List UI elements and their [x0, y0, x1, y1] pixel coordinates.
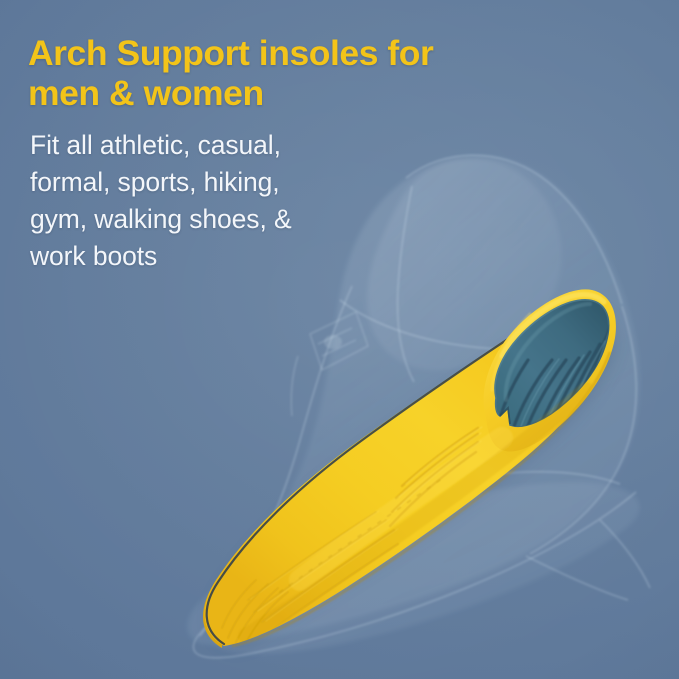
- copy-block: Arch Support insoles for men & women Fit…: [28, 33, 548, 275]
- product-feature-banner: Arch Support insoles for men & women Fit…: [0, 0, 679, 679]
- feature-description: Fit all athletic, casual, formal, sports…: [30, 127, 390, 275]
- page-title: Arch Support insoles for men & women: [28, 33, 548, 113]
